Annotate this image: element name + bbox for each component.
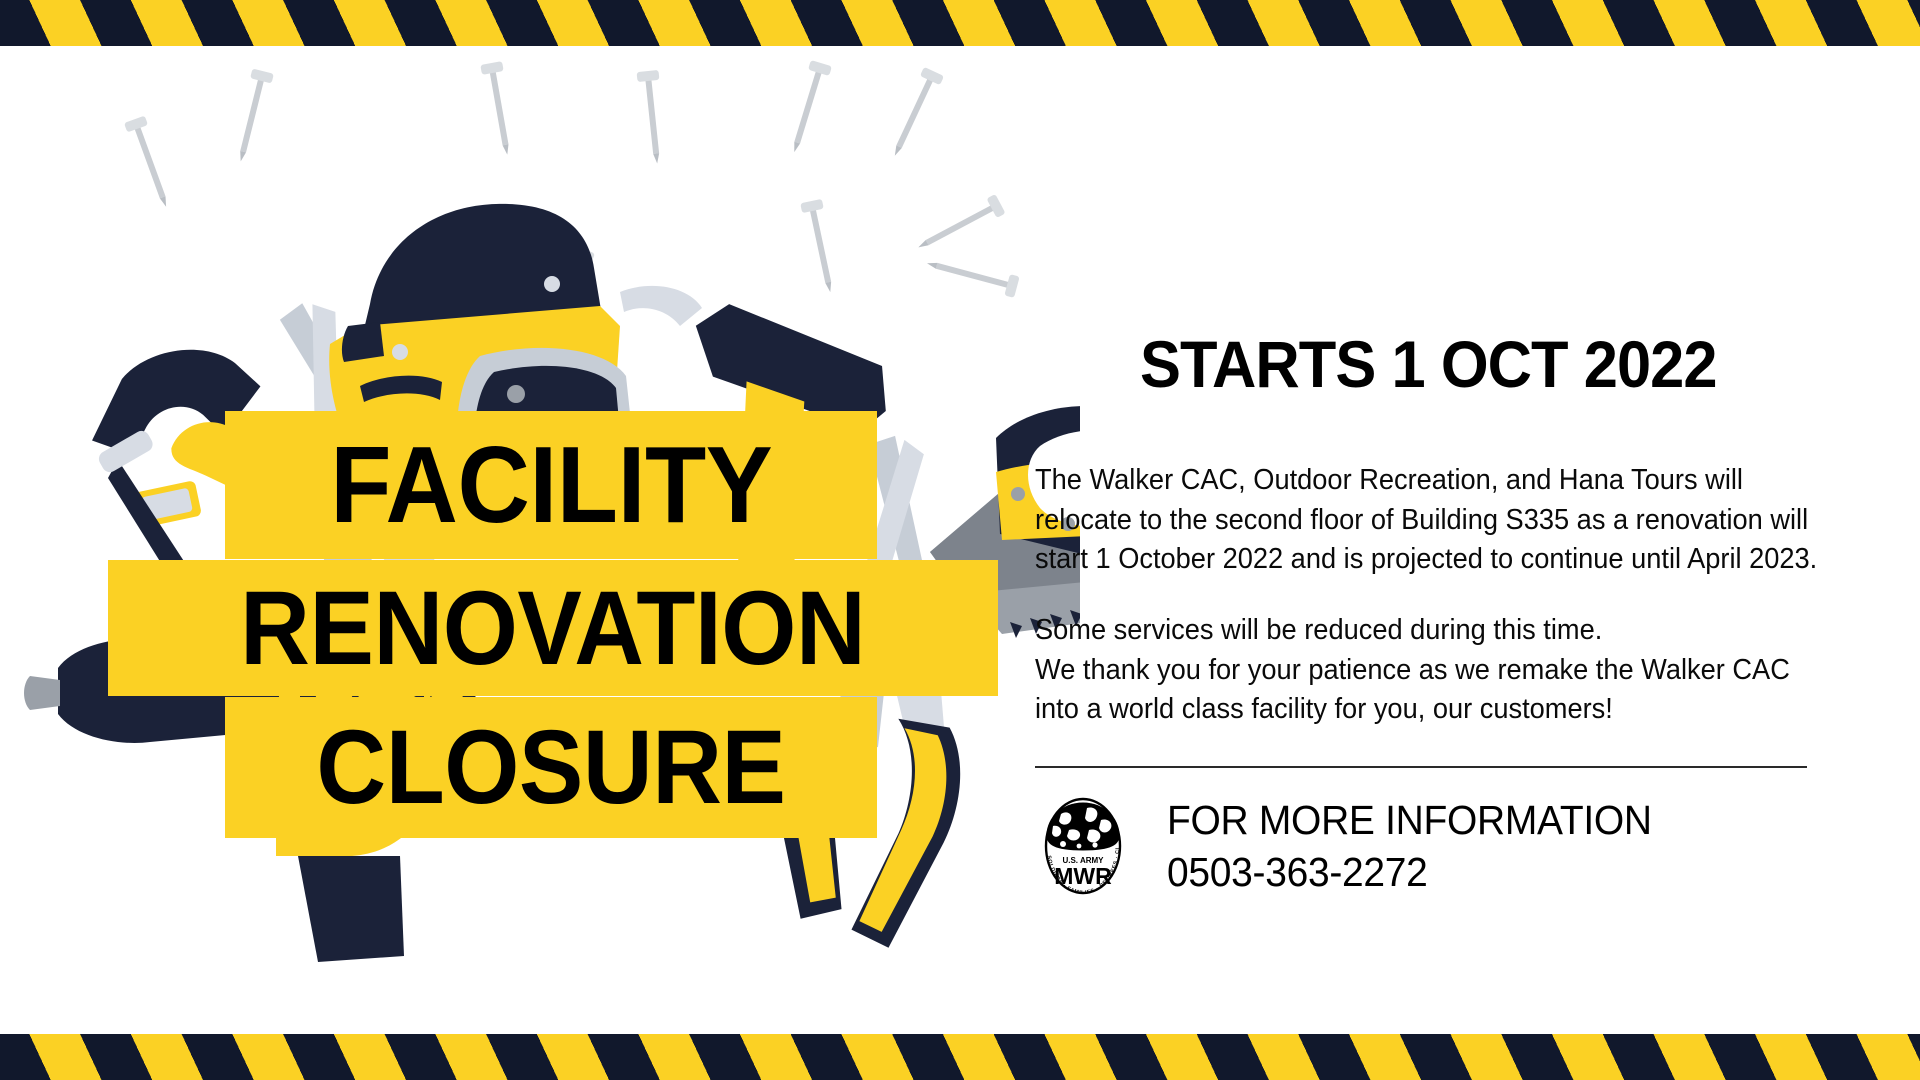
contact-row: U.S. ARMY MWR SOLDIERS · FAMILIES · RETI… — [1035, 790, 1845, 902]
title-banner-closure-text: CLOSURE — [316, 715, 785, 820]
paragraph2-line3: into a world class facility for you, our… — [1035, 690, 1809, 729]
section-divider — [1035, 766, 1807, 768]
paragraph-spacer — [1035, 579, 1845, 611]
paragraph1-line3: start 1 October 2022 and is projected to… — [1035, 540, 1809, 579]
paragraph2-line1: Some services will be reduced during thi… — [1035, 611, 1809, 650]
hazard-stripe-top — [0, 0, 1920, 46]
title-banner-facility: FACILITY — [225, 411, 877, 559]
paragraph2-line2: We thank you for your patience as we rem… — [1035, 651, 1809, 690]
title-banner-closure: CLOSURE — [225, 697, 877, 838]
hazard-stripe-bottom — [0, 1034, 1920, 1080]
contact-phone[interactable]: 0503-363-2272 — [1167, 848, 1652, 896]
contact-text: FOR MORE INFORMATION 0503-363-2272 — [1167, 796, 1677, 897]
body-copy: The Walker CAC, Outdoor Recreation, and … — [1035, 461, 1845, 729]
contact-label: FOR MORE INFORMATION — [1167, 796, 1652, 844]
start-date-headline: STARTS 1 OCT 2022 — [1140, 330, 1796, 399]
paragraph1-line1: The Walker CAC, Outdoor Recreation, and … — [1035, 461, 1809, 500]
info-panel: STARTS 1 OCT 2022 The Walker CAC, Outdoo… — [1035, 330, 1845, 902]
title-banner-renovation-text: RENOVATION — [240, 576, 865, 681]
title-banner-facility-text: FACILITY — [330, 431, 772, 540]
us-army-mwr-logo: U.S. ARMY MWR SOLDIERS · FAMILIES · RETI… — [1035, 790, 1131, 902]
paragraph1-line2: relocate to the second floor of Building… — [1035, 501, 1809, 540]
title-banner-renovation: RENOVATION — [108, 560, 998, 696]
